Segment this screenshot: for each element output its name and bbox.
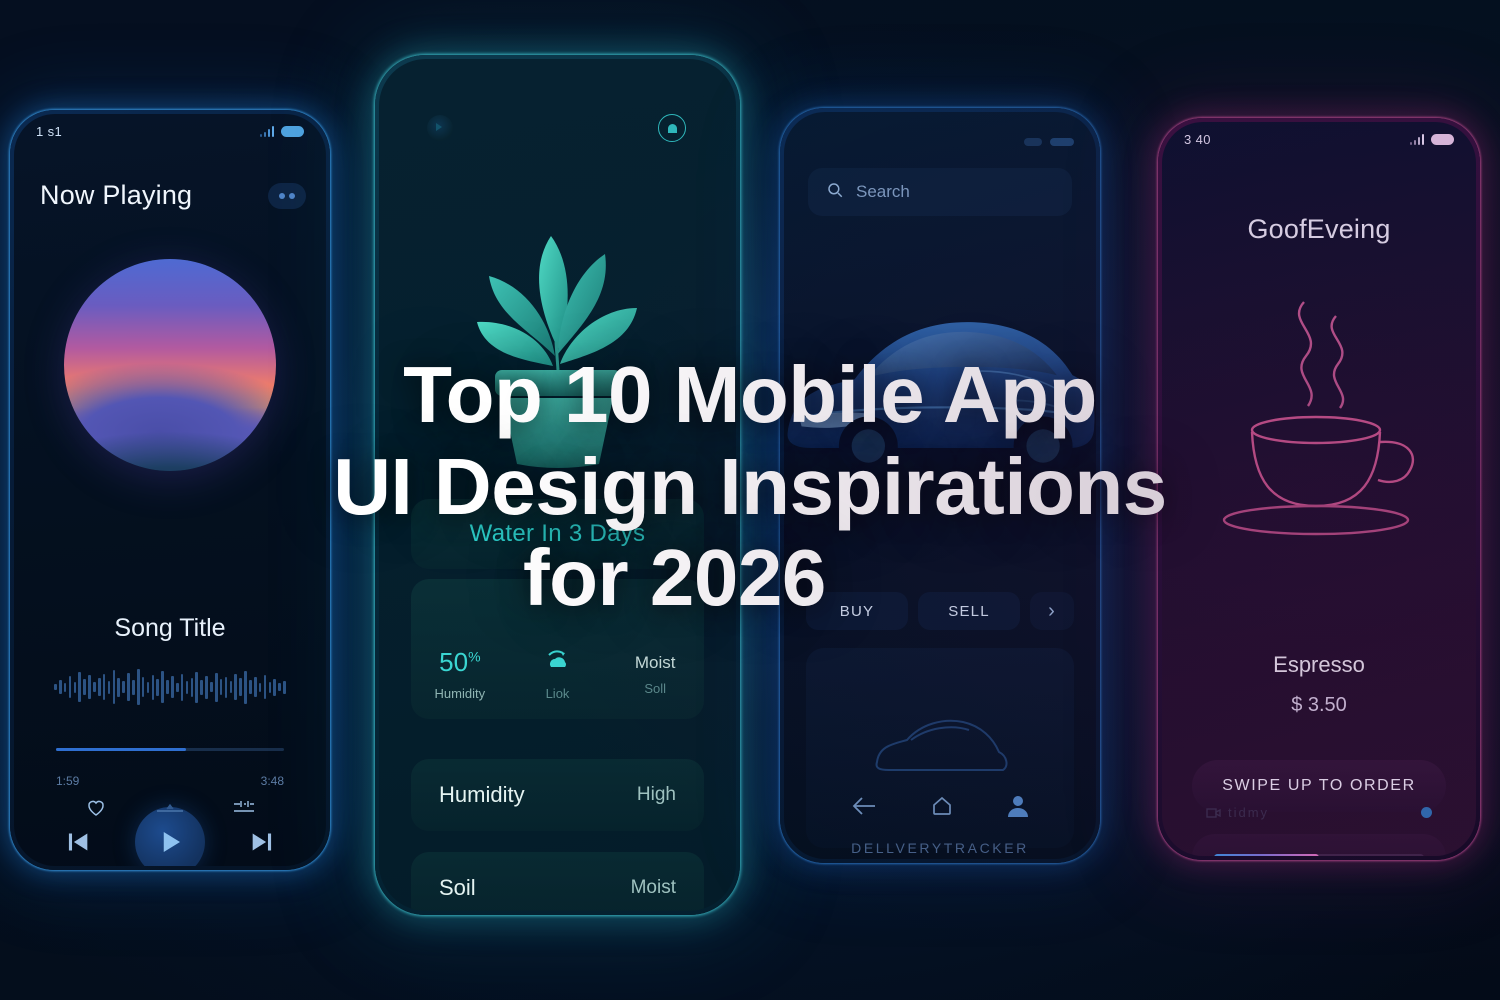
coffee-screen: 3 40 GoofEveing <box>1162 122 1476 856</box>
water-reminder-text: Water In 3 Days <box>470 520 646 548</box>
potted-plant-illustration <box>379 174 736 474</box>
status-indicators <box>1410 134 1455 145</box>
notch-speaker-icon <box>1050 138 1074 146</box>
battery-icon <box>1431 134 1454 145</box>
status-indicators <box>260 126 305 137</box>
waveform-visualizer[interactable] <box>54 666 286 708</box>
plant-row-soil[interactable]: Soil Moist <box>411 852 704 911</box>
previous-track-icon[interactable] <box>59 825 93 859</box>
page-title: Now Playing <box>40 180 192 211</box>
search-icon <box>826 181 844 204</box>
stat-humidity-label: Humidity <box>435 686 486 701</box>
tracker-label: DELLVERYTRACKER <box>784 840 1096 856</box>
item-name: Espresso <box>1162 652 1476 678</box>
song-title: Song Title <box>14 614 326 643</box>
notch-sensor-icon <box>1024 138 1042 146</box>
camera-outline-icon <box>1206 806 1222 819</box>
swipe-label: SWIPE UP TO ORDER <box>1222 777 1415 795</box>
car-marketplace-phone: Search <box>780 108 1100 863</box>
sports-car-illustration <box>784 262 1096 522</box>
row-label: Soil <box>439 875 476 901</box>
greeting-title: GoofEveing <box>1162 214 1476 245</box>
stat-light-label: Liok <box>546 686 570 701</box>
plant-stats-card: 50% Humidity Liok Moist Soll <box>411 579 704 719</box>
chevron-right-icon[interactable]: › <box>1030 592 1074 630</box>
bottom-navigation-bar <box>784 794 1096 823</box>
car-outline-icon <box>865 706 1015 791</box>
search-placeholder: Search <box>856 182 910 202</box>
coffee-order-phone: 3 40 GoofEveing <box>1158 118 1480 860</box>
total-duration: 3:48 <box>261 774 284 788</box>
car-screen: Search <box>784 112 1096 859</box>
poster-stage: 1 s1 Now Playing Song Title <box>0 0 1500 1000</box>
blue-status-dot <box>1421 807 1432 818</box>
row-value: Moist <box>631 877 676 899</box>
tab-buy[interactable]: BUY <box>806 592 908 630</box>
heart-icon[interactable] <box>84 795 108 824</box>
stat-light: Liok <box>509 579 607 719</box>
status-time: 3 40 <box>1184 132 1211 147</box>
home-icon[interactable] <box>930 794 954 823</box>
row-label: Humidity <box>439 782 525 808</box>
coffee-footer: tidmy <box>1162 805 1476 820</box>
stat-humidity-value: 50% <box>439 647 480 678</box>
order-progress-slider[interactable] <box>1192 834 1446 856</box>
signal-bars-icon <box>260 126 275 137</box>
search-input[interactable]: Search <box>808 168 1072 216</box>
watermark-text: tidmy <box>1228 805 1269 820</box>
progress-fill <box>1214 854 1319 857</box>
water-reminder-banner[interactable]: Water In 3 Days <box>411 499 704 569</box>
plant-drop-icon[interactable] <box>658 114 686 142</box>
row-value: High <box>637 784 676 806</box>
music-screen: 1 s1 Now Playing Song Title <box>14 114 326 866</box>
music-player-phone: 1 s1 Now Playing Song Title <box>10 110 330 870</box>
plant-care-phone: Water In 3 Days 50% Humidity Liok <box>375 55 740 915</box>
album-art <box>64 259 276 471</box>
share-icon[interactable] <box>155 799 185 820</box>
plant-screen: Water In 3 Days 50% Humidity Liok <box>379 59 736 911</box>
status-time: 1 s1 <box>36 124 62 139</box>
next-track-icon[interactable] <box>247 825 281 859</box>
plant-row-humidity[interactable]: Humidity High <box>411 759 704 831</box>
trade-actions: BUY SELL › <box>806 592 1074 630</box>
profile-icon[interactable] <box>1007 794 1029 823</box>
music-footer-bar <box>14 795 326 824</box>
tab-sell[interactable]: SELL <box>918 592 1020 630</box>
equalizer-icon[interactable] <box>232 798 256 821</box>
status-bar: 1 s1 <box>14 114 326 148</box>
more-options-icon[interactable] <box>268 183 306 209</box>
stat-soil: Moist Soll <box>606 579 704 719</box>
car-status-indicators <box>1024 138 1074 146</box>
now-playing-header: Now Playing <box>40 180 306 211</box>
stat-soil-label: Soll <box>644 681 666 696</box>
back-arrow-icon[interactable] <box>851 795 877 822</box>
camera-icon <box>427 115 453 141</box>
seek-track <box>56 748 284 751</box>
seek-fill <box>56 748 186 751</box>
status-bar: 3 40 <box>1162 122 1476 156</box>
item-price: $ 3.50 <box>1162 694 1476 717</box>
progress-track <box>1214 854 1424 857</box>
time-labels: 1:59 3:48 <box>56 774 284 788</box>
watermark: tidmy <box>1206 805 1269 820</box>
coffee-cup-illustration <box>1162 282 1476 552</box>
seek-bar[interactable] <box>56 748 284 751</box>
elapsed-time: 1:59 <box>56 774 79 788</box>
stat-humidity: 50% Humidity <box>411 579 509 719</box>
battery-icon <box>281 126 304 137</box>
weather-cloud-icon <box>543 647 573 678</box>
stat-soil-value: Moist <box>635 653 676 673</box>
signal-bars-icon <box>1410 134 1425 145</box>
